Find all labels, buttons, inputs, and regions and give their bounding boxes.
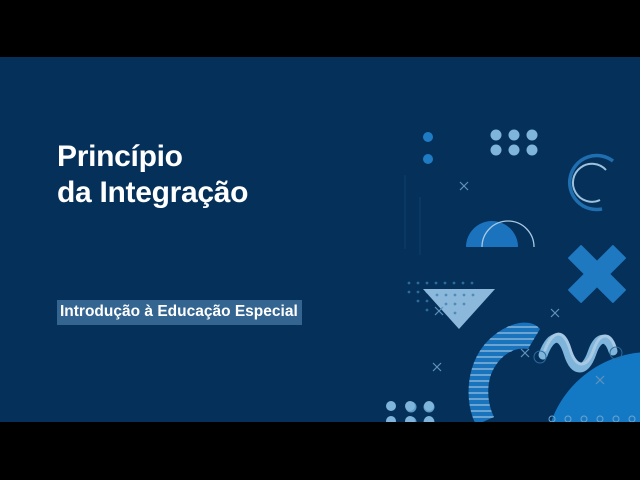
triangle-down — [423, 289, 495, 329]
decorative-graphics-layer — [0, 57, 640, 422]
letterbox-bottom-bar — [0, 422, 640, 480]
title-line-1: Princípio — [57, 139, 248, 175]
dome-semicircle — [466, 221, 518, 247]
slide-frame: Princípio da Integração Introdução à Edu… — [0, 0, 640, 480]
letterbox-top-bar — [0, 0, 640, 57]
dot-pair-left — [423, 132, 433, 164]
subtitle: Introdução à Educação Especial — [57, 300, 302, 325]
title-line-2: da Integração — [57, 175, 248, 211]
ring-arc-top-right — [570, 156, 613, 210]
subtitle-text: Introdução à Educação Especial — [57, 300, 302, 325]
striped-comma-curve — [455, 323, 555, 422]
slide-stage: Princípio da Integração Introdução à Edu… — [0, 57, 640, 422]
vertical-hairlines — [405, 175, 420, 255]
dot-grid-top — [491, 130, 538, 156]
cross-x-dotted — [552, 229, 640, 320]
page-title: Princípio da Integração — [57, 139, 248, 211]
